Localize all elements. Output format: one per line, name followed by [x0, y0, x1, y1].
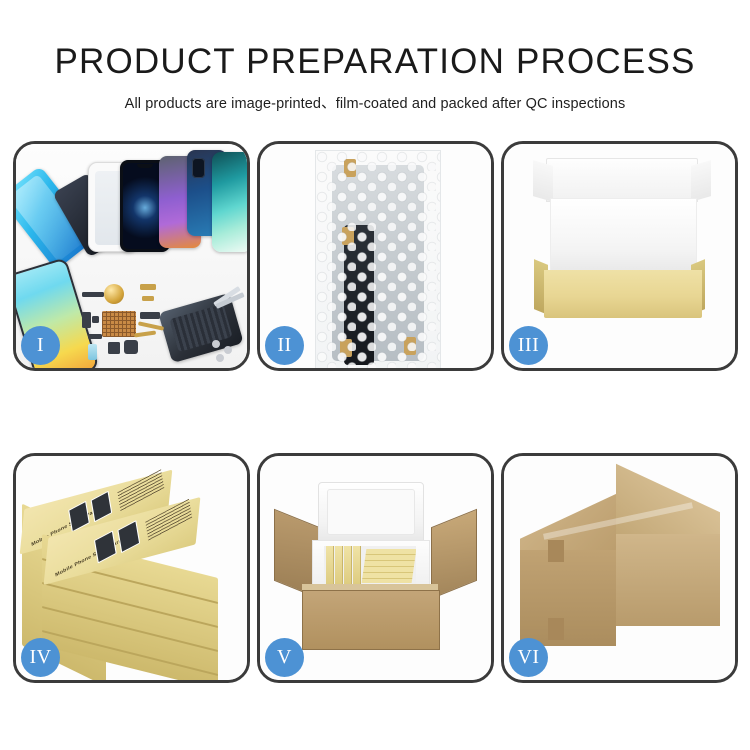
screw-part — [224, 346, 232, 354]
carton-side-right — [616, 534, 720, 626]
process-step-3: III — [501, 141, 738, 371]
packed-box — [353, 546, 361, 586]
step-badge-1: I — [21, 326, 60, 365]
component-chip — [82, 292, 104, 297]
process-step-5: V — [257, 453, 494, 683]
component-chip — [88, 334, 102, 339]
packed-boxes-area — [324, 546, 416, 586]
screw-part — [212, 340, 220, 348]
carton-tape-patch — [548, 540, 564, 562]
packed-box — [335, 546, 343, 586]
process-step-grid: I II — [13, 141, 739, 683]
label-product-image — [117, 520, 140, 553]
component-chip — [140, 312, 160, 319]
label-product-image — [91, 491, 113, 523]
page-title: PRODUCT PREPARATION PROCESS — [0, 42, 750, 82]
speaker-component — [104, 284, 124, 304]
packed-box-row — [362, 549, 416, 583]
carton-tape-patch — [548, 618, 564, 640]
carton-front-panel — [302, 590, 440, 650]
step-badge-2: II — [265, 326, 304, 365]
component-chip — [92, 316, 99, 323]
camera-module — [124, 340, 138, 354]
screw-part — [216, 354, 224, 362]
step-badge-5: V — [265, 638, 304, 677]
box-lid-flap — [546, 158, 698, 202]
step-badge-3: III — [509, 326, 548, 365]
kraft-box-front — [544, 270, 702, 318]
component-chip — [108, 342, 120, 354]
packed-box — [326, 546, 334, 586]
component-chip — [142, 296, 154, 301]
battery-component — [88, 344, 97, 360]
label-product-image — [94, 530, 117, 563]
component-chip — [82, 312, 91, 328]
step-badge-6: VI — [509, 638, 548, 677]
packed-box — [344, 546, 352, 586]
logic-board-component — [102, 311, 136, 337]
process-step-6: VI — [501, 453, 738, 683]
bubble-highlights — [316, 151, 440, 368]
product-preparation-infographic: PRODUCT PREPARATION PROCESS All products… — [0, 0, 750, 750]
white-foam-sheet — [550, 198, 697, 272]
bubble-wrap-bag — [315, 150, 441, 368]
step-badge-4: IV — [21, 638, 60, 677]
process-step-4: Mobile Phone Spare Parts Mobile Phone Sp… — [13, 453, 250, 683]
process-step-1: I — [13, 141, 250, 371]
header: PRODUCT PREPARATION PROCESS All products… — [0, 0, 750, 113]
styrofoam-lid — [318, 482, 424, 546]
carton-side-left — [520, 550, 616, 646]
teal-flagship-phone — [212, 152, 247, 252]
component-chip — [140, 284, 156, 290]
page-subtitle: All products are image-printed、film-coat… — [0, 92, 750, 113]
label-spec-lines — [117, 469, 164, 512]
process-step-2: II — [257, 141, 494, 371]
